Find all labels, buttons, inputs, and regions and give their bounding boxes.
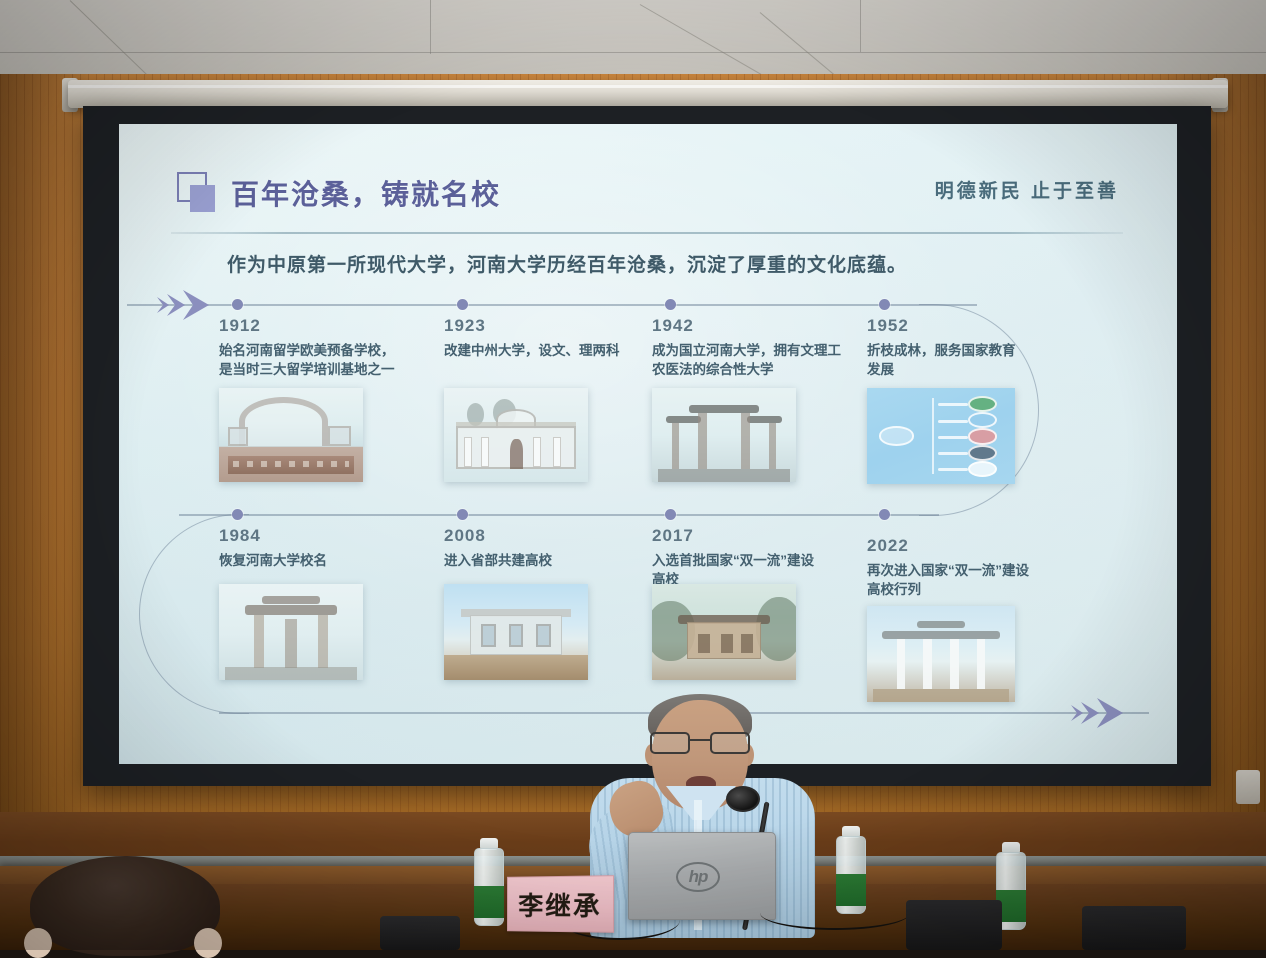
attendee-ear-right: [194, 928, 222, 958]
chair: [1082, 906, 1186, 950]
timeline-year: 1984: [219, 526, 327, 546]
title-divider: [171, 232, 1123, 234]
timeline-dot: [665, 509, 676, 520]
ceiling: [0, 0, 1266, 78]
timeline-dot: [879, 509, 890, 520]
microphone-head-icon: [726, 786, 760, 812]
timeline-year: 2022: [867, 536, 1029, 556]
slide-lead-text: 作为中原第一所现代大学，河南大学历经百年沧桑，沉淀了厚重的文化底蕴。: [227, 250, 907, 277]
attendee-hair: [30, 856, 220, 956]
chair: [906, 900, 1002, 950]
page-title: 百年沧桑，铸就名校: [231, 173, 501, 213]
timeline-description: 恢复河南大学校名: [219, 551, 327, 570]
timeline-description: 进入省部共建高校: [444, 551, 552, 570]
timeline-year: 1942: [652, 316, 852, 336]
timeline-item-1952: 1952 折枝成林，服务国家教育发展: [867, 316, 1027, 379]
nameplate-text: 李继承: [518, 885, 601, 923]
timeline-description: 再次进入国家“双一流”建设高校行列: [867, 561, 1029, 599]
speaker-nameplate: 李继承: [507, 875, 614, 933]
cable: [760, 896, 910, 930]
stone-gate-photo: [652, 388, 796, 482]
timeline-description: 始名河南留学欧美预备学校，是当时三大留学培训基地之一: [219, 341, 404, 379]
timeline-dot: [457, 299, 468, 310]
timeline-dot: [665, 299, 676, 310]
timeline-description: 改建中州大学，设文、理两科: [444, 341, 620, 360]
timeline-year: 2008: [444, 526, 552, 546]
hp-logo-icon: hp: [676, 862, 720, 892]
projection-screen: 百年沧桑，铸就名校 明德新民 止于至善 作为中原第一所现代大学，河南大学历经百年…: [83, 106, 1211, 786]
timeline-dot: [232, 299, 243, 310]
eyeglasses-icon: [648, 732, 754, 754]
timeline-item-1923: 1923 改建中州大学，设文、理两科: [444, 316, 620, 360]
attendee-ear-left: [24, 928, 52, 958]
timeline-dot: [232, 509, 243, 520]
timeline-item-1984: 1984 恢复河南大学校名: [219, 526, 327, 570]
timeline-year: 1952: [867, 316, 1027, 336]
white-paifang-photo: [867, 606, 1015, 702]
branch-diagram-image: [867, 388, 1015, 484]
wall-outlet-panel: [1236, 770, 1260, 804]
old-facade-photo: [444, 388, 588, 482]
historic-archway-photo: [219, 388, 363, 482]
timeline-dot: [879, 299, 890, 310]
foreground-attendee: [22, 856, 227, 956]
presentation-slide: 百年沧桑，铸就名校 明德新民 止于至善 作为中原第一所现代大学，河南大学历经百年…: [119, 124, 1177, 764]
timeline-year: 1912: [219, 316, 404, 336]
timeline-description: 折枝成林，服务国家教育发展: [867, 341, 1027, 379]
square-bullet-icon: [177, 172, 221, 214]
timeline-item-1912: 1912 始名河南留学欧美预备学校，是当时三大留学培训基地之一: [219, 316, 404, 379]
timeline-item-1942: 1942 成为国立河南大学，拥有文理工农医法的综合性大学: [652, 316, 852, 379]
timeline-rail-top: [127, 304, 977, 306]
timeline-rail-middle: [179, 514, 939, 516]
lecture-hall-scene: 百年沧桑，铸就名校 明德新民 止于至善 作为中原第一所现代大学，河南大学历经百年…: [0, 0, 1266, 950]
timeline-dot: [457, 509, 468, 520]
chevron-arrow-start-icon: [153, 288, 215, 322]
chevron-arrow-end-icon: [1067, 696, 1129, 730]
library-building-photo: [652, 584, 796, 680]
timeline-year: 1923: [444, 316, 620, 336]
projector-screen-roller: [68, 80, 1228, 108]
modern-campus-photo: [444, 584, 588, 680]
campus-gate-photo: [219, 584, 363, 680]
timeline-item-2022: 2022 再次进入国家“双一流”建设高校行列: [867, 536, 1029, 599]
timeline-item-2008: 2008 进入省部共建高校: [444, 526, 552, 570]
chair: [380, 916, 460, 950]
timeline-description: 成为国立河南大学，拥有文理工农医法的综合性大学: [652, 341, 852, 379]
timeline-year: 2017: [652, 526, 822, 546]
school-motto: 明德新民 止于至善: [935, 176, 1119, 203]
timeline-item-2017: 2017 入选首批国家“双一流”建设高校: [652, 526, 822, 589]
